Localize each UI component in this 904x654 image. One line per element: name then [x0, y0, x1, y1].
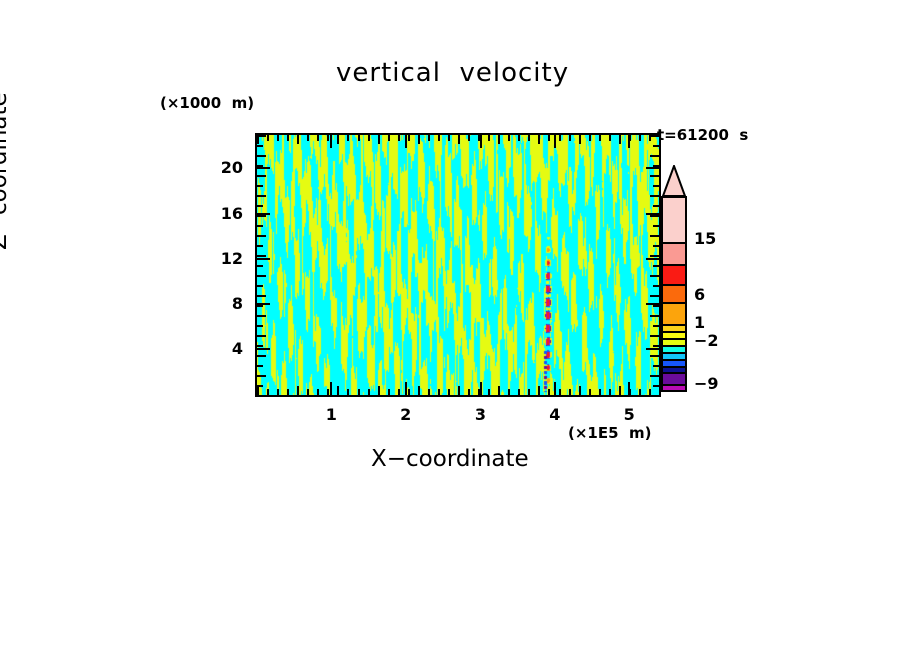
axis-tick — [458, 135, 460, 144]
axis-tick — [347, 135, 349, 141]
axis-tick — [508, 135, 510, 141]
axis-tick — [257, 205, 263, 207]
axis-tick — [569, 135, 571, 141]
axis-tick — [347, 389, 349, 395]
axis-tick — [257, 215, 266, 217]
axis-tick — [650, 155, 659, 157]
axis-tick — [257, 303, 270, 305]
axis-tick — [650, 375, 659, 377]
axis-tick — [257, 375, 266, 377]
axis-tick — [528, 135, 530, 141]
axis-tick — [408, 389, 410, 395]
axis-tick — [257, 195, 266, 197]
axis-tick — [650, 215, 659, 217]
colorbar-tick-label: −2 — [694, 331, 719, 350]
axis-tick — [257, 355, 266, 357]
axis-tick — [653, 265, 659, 267]
axis-tick — [650, 335, 659, 337]
axis-tick — [488, 135, 490, 141]
axis-tick — [650, 295, 659, 297]
axis-tick — [619, 135, 621, 144]
colorbar-tick-label: 1 — [694, 313, 705, 332]
axis-tick — [650, 395, 659, 397]
x-axis-tick-label: 3 — [469, 405, 493, 424]
axis-tick — [388, 135, 390, 141]
axis-tick — [418, 386, 420, 395]
axis-tick — [650, 235, 659, 237]
colorbar-band — [663, 340, 685, 347]
axis-tick — [650, 255, 659, 257]
figure-canvas: vertical velocity (×1000 m) t=61200 s Z−… — [0, 0, 904, 654]
axis-tick — [378, 386, 380, 395]
axis-tick — [257, 365, 263, 367]
axis-tick — [257, 345, 263, 347]
axis-tick — [257, 245, 263, 247]
axis-tick — [650, 275, 659, 277]
contour-plot-area — [255, 133, 661, 397]
axis-tick — [628, 382, 630, 395]
axis-tick — [257, 335, 266, 337]
axis-tick — [327, 135, 329, 141]
axis-tick — [650, 355, 659, 357]
axis-tick — [317, 389, 319, 395]
x-axis-tick-label: 2 — [394, 405, 418, 424]
y-axis-tick-label: 8 — [209, 294, 243, 313]
axis-tick — [653, 345, 659, 347]
axis-tick — [257, 385, 263, 387]
axis-tick — [307, 135, 309, 141]
colorbar-band — [663, 198, 685, 244]
axis-tick — [559, 135, 561, 141]
axis-tick — [653, 185, 659, 187]
axis-tick — [653, 305, 659, 307]
axis-tick — [257, 265, 263, 267]
axis-tick — [307, 389, 309, 395]
axis-tick — [548, 135, 550, 141]
axis-tick — [337, 135, 339, 144]
timestamp-label: t=61200 s — [657, 126, 748, 144]
axis-tick — [405, 382, 407, 395]
axis-tick — [599, 389, 601, 395]
axis-tick — [438, 135, 440, 141]
axis-tick — [398, 135, 400, 141]
axis-tick — [650, 195, 659, 197]
axis-tick — [458, 386, 460, 395]
axis-tick — [257, 145, 263, 147]
axis-tick — [480, 382, 482, 395]
colorbar-band — [663, 347, 685, 354]
colorbar-band — [663, 361, 685, 368]
axis-tick — [609, 135, 611, 141]
colorbar-tick-label: −9 — [694, 374, 719, 393]
axis-tick — [468, 389, 470, 395]
axis-tick — [408, 135, 410, 141]
axis-tick — [609, 389, 611, 395]
axis-tick — [405, 135, 407, 148]
axis-tick — [480, 135, 482, 148]
axis-tick — [628, 135, 630, 148]
axis-tick — [650, 175, 659, 177]
axis-tick — [659, 135, 661, 144]
axis-tick — [650, 315, 659, 317]
axis-tick — [498, 386, 500, 395]
axis-tick — [257, 348, 270, 350]
axis-tick — [398, 389, 400, 395]
axis-tick — [538, 386, 540, 395]
axis-tick — [418, 135, 420, 144]
axis-tick — [518, 135, 520, 141]
colorbar-band — [663, 386, 685, 392]
axis-tick — [297, 135, 299, 144]
axis-tick — [569, 389, 571, 395]
x-axis-tick-label: 1 — [319, 405, 343, 424]
axis-tick — [646, 167, 659, 169]
axis-tick — [257, 155, 266, 157]
axis-tick — [646, 258, 659, 260]
axis-tick — [297, 386, 299, 395]
colorbar-band — [663, 286, 685, 304]
axis-tick — [257, 315, 266, 317]
axis-tick — [589, 135, 591, 141]
axis-tick — [257, 386, 259, 395]
axis-tick — [257, 255, 266, 257]
y-axis-tick-label: 20 — [209, 158, 243, 177]
axis-tick — [548, 389, 550, 395]
axis-tick — [508, 389, 510, 395]
axis-tick — [327, 389, 329, 395]
axis-tick — [257, 135, 266, 137]
y-axis-title: Z−coordinate — [0, 92, 12, 250]
axis-tick — [257, 305, 263, 307]
axis-tick — [257, 258, 270, 260]
axis-tick — [488, 389, 490, 395]
axis-tick — [579, 386, 581, 395]
y-axis-tick-label: 12 — [209, 249, 243, 268]
axis-tick — [257, 235, 266, 237]
axis-tick — [428, 135, 430, 141]
axis-tick — [639, 389, 641, 395]
x-axis-tick-label: 5 — [617, 405, 641, 424]
y-axis-units-label: (×1000 m) — [160, 94, 254, 112]
axis-tick — [267, 135, 269, 141]
axis-tick — [579, 135, 581, 144]
axis-tick — [646, 303, 659, 305]
axis-tick — [653, 145, 659, 147]
axis-tick — [650, 135, 659, 137]
axis-tick — [653, 245, 659, 247]
axis-tick — [277, 389, 279, 395]
axis-tick — [599, 135, 601, 141]
axis-tick — [653, 225, 659, 227]
axis-tick — [378, 135, 380, 144]
axis-tick — [358, 135, 360, 141]
axis-tick — [368, 389, 370, 395]
axis-tick — [257, 213, 270, 215]
axis-tick — [498, 135, 500, 144]
colorbar-arrow-icon — [661, 165, 687, 197]
colorbar-band — [663, 304, 685, 326]
colorbar-tick-label: 6 — [694, 285, 705, 304]
axis-tick — [653, 365, 659, 367]
velocity-field-raster — [257, 135, 659, 395]
axis-tick — [448, 389, 450, 395]
y-axis-tick-label: 16 — [209, 204, 243, 223]
axis-tick — [257, 285, 263, 287]
y-axis-tick-label: 4 — [209, 339, 243, 358]
axis-tick — [277, 135, 279, 141]
axis-tick — [368, 135, 370, 141]
axis-tick — [257, 225, 263, 227]
axis-tick — [538, 135, 540, 144]
axis-tick — [653, 325, 659, 327]
colorbar — [661, 196, 687, 392]
page-title: vertical velocity — [336, 58, 569, 88]
axis-tick — [646, 213, 659, 215]
axis-tick — [317, 135, 319, 141]
colorbar-band — [663, 354, 685, 361]
axis-tick — [554, 135, 556, 148]
axis-tick — [257, 185, 263, 187]
axis-tick — [646, 348, 659, 350]
axis-tick — [653, 285, 659, 287]
axis-tick — [528, 389, 530, 395]
axis-tick — [287, 135, 289, 141]
x-axis-tick-label: 4 — [543, 405, 567, 424]
axis-tick — [428, 389, 430, 395]
colorbar-band — [663, 244, 685, 266]
axis-tick — [619, 386, 621, 395]
axis-tick — [554, 382, 556, 395]
axis-tick — [257, 395, 266, 397]
axis-tick — [257, 325, 263, 327]
axis-tick — [388, 389, 390, 395]
axis-tick — [330, 135, 332, 148]
axis-tick — [287, 389, 289, 395]
x-axis-title: X−coordinate — [371, 446, 529, 472]
axis-tick — [518, 389, 520, 395]
colorbar-band — [663, 326, 685, 333]
colorbar-band — [663, 333, 685, 340]
colorbar-band — [663, 374, 685, 386]
axis-tick — [653, 385, 659, 387]
axis-tick — [438, 389, 440, 395]
x-axis-units-label: (×1E5 m) — [568, 424, 651, 442]
axis-tick — [337, 386, 339, 395]
axis-tick — [468, 135, 470, 141]
axis-tick — [330, 382, 332, 395]
axis-tick — [653, 205, 659, 207]
axis-tick — [257, 167, 270, 169]
axis-tick — [639, 135, 641, 141]
axis-tick — [257, 295, 266, 297]
axis-tick — [257, 275, 266, 277]
axis-tick — [589, 389, 591, 395]
colorbar-tick-label: 15 — [694, 229, 716, 248]
axis-tick — [257, 175, 266, 177]
axis-tick — [267, 389, 269, 395]
axis-tick — [559, 389, 561, 395]
axis-tick — [448, 135, 450, 141]
colorbar-band — [663, 266, 685, 286]
axis-tick — [358, 389, 360, 395]
